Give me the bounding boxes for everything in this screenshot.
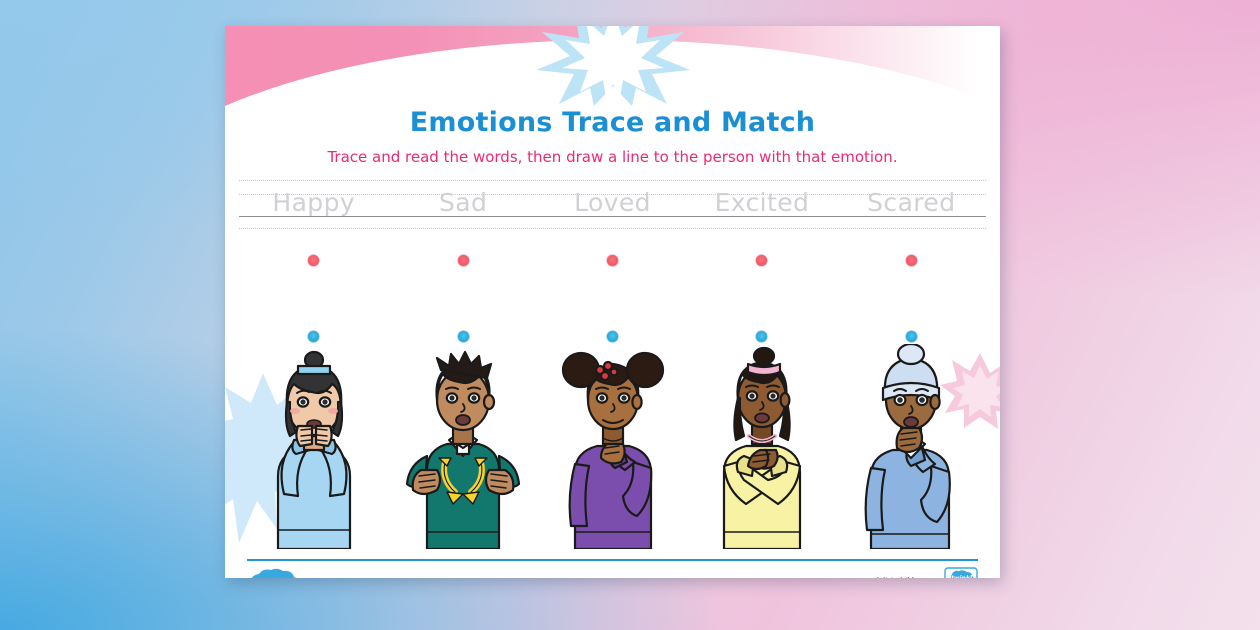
- page-subtitle: Trace and read the words, then draw a li…: [225, 148, 1000, 166]
- trace-word-cell[interactable]: Scared: [837, 180, 986, 228]
- match-dot-scared[interactable]: [906, 255, 917, 266]
- header-starburst-icon: [528, 26, 698, 106]
- character-row: [239, 344, 986, 549]
- person-dot-cell[interactable]: [388, 331, 537, 342]
- worksheet-page: Emotions Trace and Match Trace and read …: [225, 26, 1000, 578]
- word-dot-cell[interactable]: [538, 255, 687, 266]
- footer-divider: [247, 559, 978, 561]
- word-dot-row: [239, 255, 986, 266]
- character-4-happy[interactable]: [687, 344, 836, 549]
- girl-arms-crossed-illustration: [702, 344, 822, 549]
- person-dot-cell[interactable]: [239, 331, 388, 342]
- character-3-loved[interactable]: [538, 344, 687, 549]
- trace-word: Loved: [574, 190, 651, 215]
- trace-word-cell[interactable]: Happy: [239, 180, 388, 228]
- match-dot-happy[interactable]: [308, 255, 319, 266]
- character-1-scared[interactable]: [239, 344, 388, 549]
- match-dot-loved[interactable]: [607, 255, 618, 266]
- tracing-line-band: Happy Sad Loved Excited Scared: [239, 180, 986, 228]
- trace-word-cell[interactable]: Loved: [538, 180, 687, 228]
- footer: twinkl visit twinkl.com twinkl Early Car…: [247, 566, 978, 578]
- match-dot-person-1[interactable]: [308, 331, 319, 342]
- page-title: Emotions Trace and Match: [225, 107, 1000, 138]
- trace-word: Happy: [272, 190, 355, 215]
- trace-word-cell[interactable]: Sad: [388, 180, 537, 228]
- match-dot-person-5[interactable]: [906, 331, 917, 342]
- trace-word-row: Happy Sad Loved Excited Scared: [239, 180, 986, 228]
- word-dot-cell[interactable]: [687, 255, 836, 266]
- match-dot-sad[interactable]: [458, 255, 469, 266]
- match-dot-excited[interactable]: [756, 255, 767, 266]
- trace-word: Excited: [715, 190, 810, 215]
- guide-line-descender: [239, 228, 986, 229]
- girl-afro-puffs-illustration: [553, 344, 673, 549]
- word-dot-cell[interactable]: [837, 255, 986, 266]
- person-dot-cell[interactable]: [837, 331, 986, 342]
- word-dot-cell[interactable]: [239, 255, 388, 266]
- boy-rugby-shirt-arrows-illustration: [401, 344, 525, 549]
- character-5-excited[interactable]: [837, 344, 986, 549]
- word-dot-cell[interactable]: [388, 255, 537, 266]
- visit-link[interactable]: visit twinkl.com: [872, 576, 932, 578]
- child-hands-at-mouth-illustration: [254, 344, 374, 549]
- trace-word-cell[interactable]: Excited: [687, 180, 836, 228]
- svg-text:twinkl: twinkl: [951, 575, 973, 578]
- match-dot-person-2[interactable]: [458, 331, 469, 342]
- match-dot-person-3[interactable]: [607, 331, 618, 342]
- boy-bobble-hat-illustration: [849, 344, 973, 549]
- person-dot-row: [239, 331, 986, 342]
- character-2-sad[interactable]: [388, 344, 537, 549]
- twinkl-approved-badge-icon[interactable]: twinkl Early Career Approved: [944, 567, 978, 578]
- twinkl-logo-icon[interactable]: twinkl: [247, 568, 301, 578]
- person-dot-cell[interactable]: [687, 331, 836, 342]
- trace-word: Scared: [867, 190, 955, 215]
- match-dot-person-4[interactable]: [756, 331, 767, 342]
- trace-word: Sad: [439, 190, 487, 215]
- person-dot-cell[interactable]: [538, 331, 687, 342]
